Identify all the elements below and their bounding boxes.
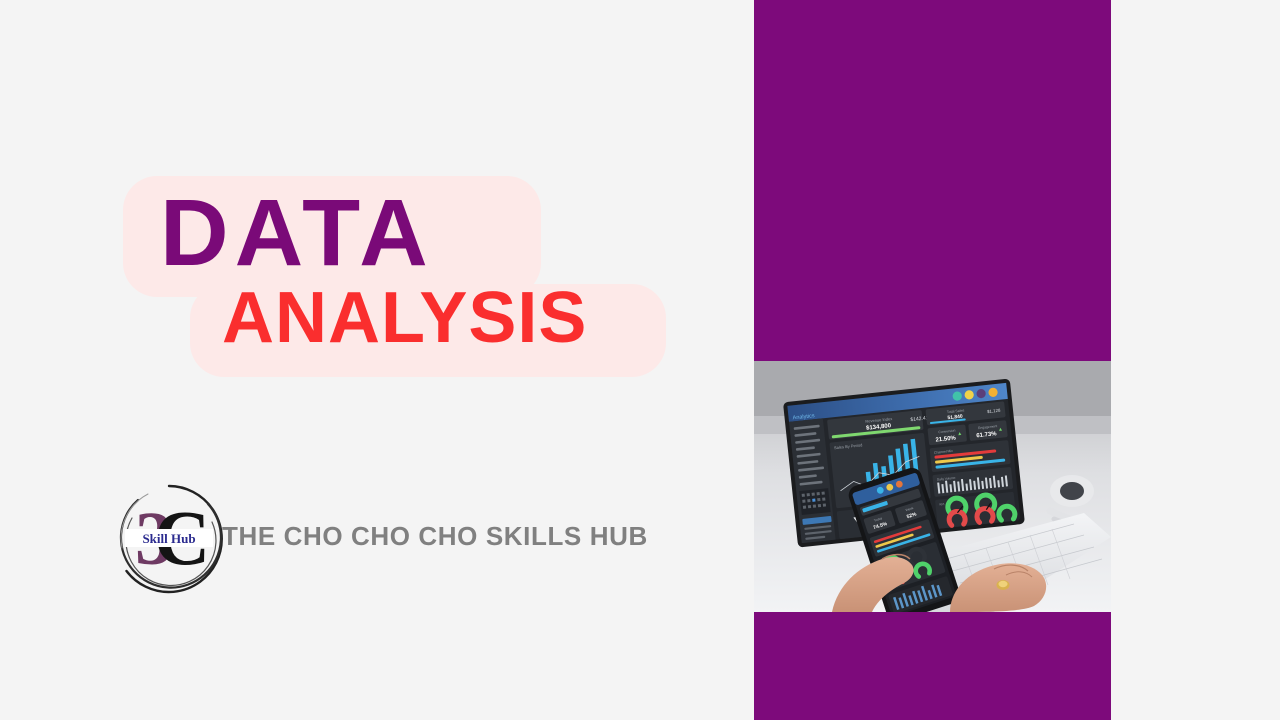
brand-lockup: 3 C Skill Hub THE CHO CHO CHO SKILLS HUB: [108, 478, 728, 600]
right-media-column: Analytics: [754, 0, 1111, 720]
dashboard-photo: Analytics: [754, 361, 1111, 612]
title-block: DATA ANALYSIS: [0, 0, 754, 720]
purple-band-top: [754, 0, 1111, 361]
logo-badge-label: Skill Hub: [142, 531, 195, 546]
right-background-fill: [1111, 0, 1280, 720]
headline-primary: DATA: [160, 184, 434, 284]
brand-logo-icon: 3 C Skill Hub: [108, 478, 230, 600]
brand-name-label: THE CHO CHO CHO SKILLS HUB: [222, 521, 648, 552]
svg-text:KPI: KPI: [939, 502, 944, 507]
purple-band-bottom: [754, 612, 1111, 720]
headline-secondary: ANALYSIS: [222, 281, 587, 357]
left-content-panel: DATA ANALYSIS 3 C Skill Hub: [0, 0, 754, 720]
